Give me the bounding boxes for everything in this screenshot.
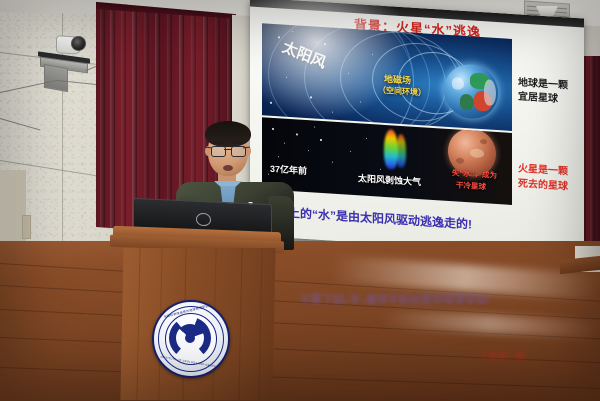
speaker-hair	[205, 121, 251, 147]
glasses-icon	[211, 146, 226, 157]
wall-switch-plate	[22, 215, 31, 239]
glasses-bridge	[224, 149, 231, 150]
lecture-hall-photo: 背景：火星“水”逃逸 太阳风 地磁场 （空间环境）	[0, 0, 600, 401]
laptop-brand-logo-icon	[196, 213, 211, 227]
floor-reflection-mars-note: 火星是一颗	[480, 349, 525, 362]
slide-caption-mars-2: 干冷星球	[456, 181, 486, 191]
slide-image-solar-wind: 太阳风 地磁场 （空间环境）	[262, 23, 512, 131]
institute-emblem: 中国科学院地质与地球物理研究所 INSTITUTE OF GEOLOGY AND…	[152, 300, 230, 378]
slide-note-earth-2: 宜居星球	[518, 90, 558, 106]
floor: 火星上的“水”是由太阳风驱动逃逸走的! 火星是一颗	[0, 241, 600, 401]
projection-screen: 背景：火星“水”逃逸 太阳风 地磁场 （空间环境）	[250, 0, 584, 257]
slide-caption-era: 37亿年前	[270, 162, 307, 177]
camera-lens-icon	[71, 36, 86, 51]
slide-label-magnetic-field: 地磁场	[384, 75, 411, 86]
slide-caption-mars-1: 失“水”，成为	[452, 169, 497, 180]
speaker-mouth	[223, 165, 233, 171]
slide-caption-erosion: 太阳风剥蚀大气	[358, 171, 421, 188]
camera-mount	[44, 64, 68, 92]
floor-reflection-statement: 火星上的“水”是由太阳风驱动逃逸走的!	[300, 291, 491, 307]
